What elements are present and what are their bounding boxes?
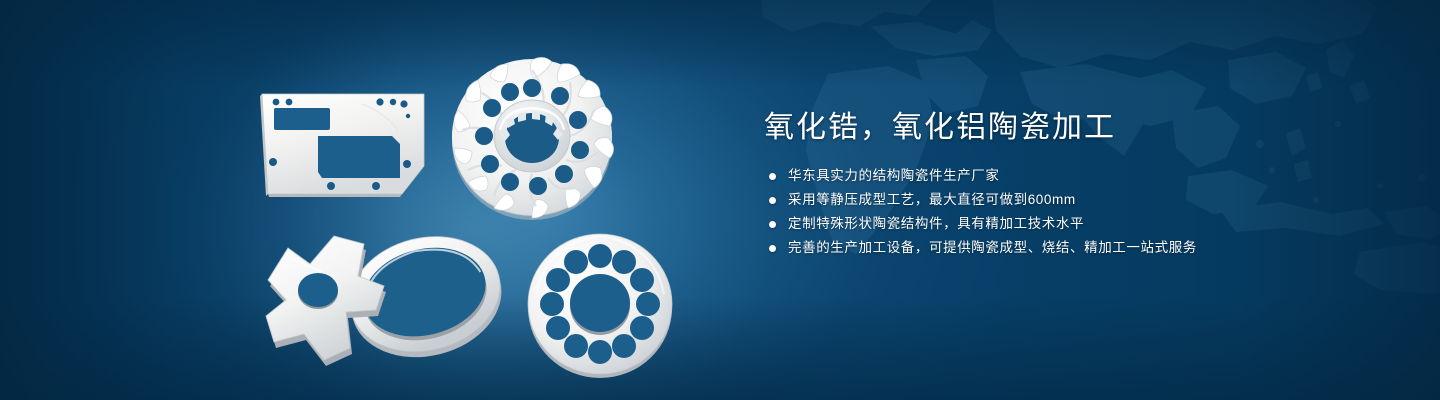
list-item: 采用等静压成型工艺，最大直径可做到600mm bbox=[764, 188, 1324, 212]
feature-text: 华东具实力的结构陶瓷件生产厂家 bbox=[788, 164, 1000, 188]
feature-text: 采用等静压成型工艺，最大直径可做到600mm bbox=[788, 188, 1076, 212]
list-item: 华东具实力的结构陶瓷件生产厂家 bbox=[764, 164, 1324, 188]
ceramic-cross-shaped-plate-image bbox=[252, 224, 452, 368]
bullet-dot-icon bbox=[769, 221, 776, 228]
feature-list: 华东具实力的结构陶瓷件生产厂家 采用等静压成型工艺，最大直径可做到600mm 定… bbox=[764, 164, 1324, 260]
bullet-dot-icon bbox=[769, 197, 776, 204]
bullet-dot-icon bbox=[769, 245, 776, 252]
feature-text: 完善的生产加工设备，可提供陶瓷成型、烧结、精加工一站式服务 bbox=[788, 236, 1197, 260]
promo-banner: 氧化锆，氧化铝陶瓷加工 华东具实力的结构陶瓷件生产厂家 采用等静压成型工艺，最大… bbox=[0, 0, 1440, 400]
list-item: 定制特殊形状陶瓷结构件，具有精加工技术水平 bbox=[764, 212, 1324, 236]
bullet-dot-icon bbox=[769, 173, 776, 180]
ceramic-perforated-ring-plate-image bbox=[522, 228, 678, 380]
banner-copy: 氧化锆，氧化铝陶瓷加工 华东具实力的结构陶瓷件生产厂家 采用等静压成型工艺，最大… bbox=[764, 108, 1324, 260]
page-title: 氧化锆，氧化铝陶瓷加工 bbox=[764, 108, 1324, 148]
feature-text: 定制特殊形状陶瓷结构件，具有精加工技术水平 bbox=[788, 212, 1084, 236]
ceramic-plate-with-cutouts-image bbox=[252, 78, 438, 204]
ceramic-impeller-wheel-image bbox=[444, 48, 620, 224]
list-item: 完善的生产加工设备，可提供陶瓷成型、烧结、精加工一站式服务 bbox=[764, 236, 1324, 260]
